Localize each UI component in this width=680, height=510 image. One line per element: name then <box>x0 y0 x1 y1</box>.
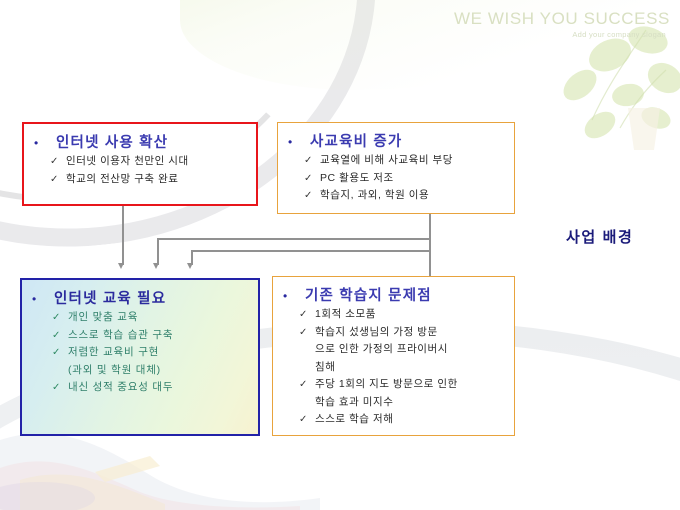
list-item-continuation: 침해 <box>315 360 508 376</box>
box2-title: 사교육비 증가 <box>310 130 402 151</box>
box1-bullet-icon: • <box>34 137 56 149</box>
list-item: ✓인터넷 이용자 천만인 시대 <box>66 154 250 170</box>
list-item-label: PC 활용도 저조 <box>320 172 394 184</box>
list-item-label: 침해 <box>315 361 335 373</box>
list-item: ✓교육열에 비해 사교육비 부당 <box>320 153 508 169</box>
box1-heading: • 인터넷 사용 확산 <box>34 131 256 152</box>
box4-title: 기존 학습지 문제점 <box>305 284 432 305</box>
box-existing-workbook-problems[interactable]: • 기존 학습지 문제점 ✓1회적 소모품 ✓학습지 섰생님의 가정 방문 으로… <box>272 276 515 436</box>
list-item-label: 학습 효과 미지수 <box>315 396 393 408</box>
list-item-label: 내신 성적 중요성 대두 <box>68 381 173 393</box>
list-item-label: 학습지 섰생님의 가정 방문 <box>315 326 438 338</box>
check-icon: ✓ <box>50 154 59 170</box>
box4-item-list: ✓1회적 소모품 ✓학습지 섰생님의 가정 방문 으로 인한 가정의 프라이버시… <box>273 307 514 428</box>
check-icon: ✓ <box>304 188 313 204</box>
box3-bullet-icon: • <box>32 293 54 305</box>
check-icon: ✓ <box>304 153 313 169</box>
list-item-label: 교육열에 비해 사교육비 부당 <box>320 154 453 166</box>
list-item: ✓스스로 학습 습관 구축 <box>68 328 252 344</box>
list-item-continuation: 학습 효과 미지수 <box>315 395 508 411</box>
box-internet-usage-spread[interactable]: • 인터넷 사용 확산 ✓인터넷 이용자 천만인 시대 ✓학교의 전산망 구축 … <box>22 122 258 206</box>
arrowhead-box2-elbow2 <box>187 263 193 269</box>
list-item-label: 학교의 전산망 구축 완료 <box>66 173 179 185</box>
list-item: ✓내신 성적 중요성 대두 <box>68 380 252 396</box>
list-item: ✓개인 맞춤 교육 <box>68 310 252 326</box>
slide-canvas: WE WISH YOU SUCCESS Add your company slo… <box>0 0 680 510</box>
box3-item-list: ✓개인 맞춤 교육 ✓스스로 학습 습관 구축 ✓저렴한 교육비 구현 (과외 … <box>22 310 258 396</box>
list-item: ✓저렴한 교육비 구현 <box>68 345 252 361</box>
box-private-education-cost-increase[interactable]: • 사교육비 증가 ✓교육열에 비해 사교육비 부당 ✓PC 활용도 저조 ✓학… <box>277 122 515 214</box>
box2-item-list: ✓교육열에 비해 사교육비 부당 ✓PC 활용도 저조 ✓학습지, 과외, 학원… <box>278 153 514 204</box>
list-item-continuation: (과외 및 학원 대체) <box>68 363 252 379</box>
box-internet-education-needed[interactable]: • 인터넷 교육 필요 ✓개인 맞춤 교육 ✓스스로 학습 습관 구축 ✓저렴한… <box>20 278 260 436</box>
arrowhead-box1-to-box3 <box>118 263 124 269</box>
list-item-label: 으로 인한 가정의 프라이버시 <box>315 343 448 355</box>
slide-header-title: WE WISH YOU SUCCESS <box>454 9 670 29</box>
section-label-business-background: 사업 배경 <box>566 226 633 247</box>
list-item: ✓PC 활용도 저조 <box>320 171 508 187</box>
list-item-continuation: 으로 인한 가정의 프라이버시 <box>315 342 508 358</box>
list-item-label: 스스로 학습 저해 <box>315 413 393 425</box>
connector-box1-to-box3 <box>122 205 124 265</box>
check-icon: ✓ <box>304 171 313 187</box>
box3-title: 인터넷 교육 필요 <box>54 287 166 308</box>
list-item: ✓학습지 섰생님의 가정 방문 <box>315 325 508 341</box>
connector-box2-to-box4 <box>429 214 431 276</box>
check-icon: ✓ <box>52 310 61 326</box>
list-item-label: 학습지, 과외, 학원 이용 <box>320 189 429 201</box>
box1-title: 인터넷 사용 확산 <box>56 131 168 152</box>
connector-box2-elbow2-across <box>191 250 430 252</box>
box2-heading: • 사교육비 증가 <box>288 130 514 151</box>
list-item: ✓학교의 전산망 구축 완료 <box>66 172 250 188</box>
connector-box2-elbow1-drop <box>157 238 159 265</box>
list-item: ✓1회적 소모품 <box>315 307 508 323</box>
list-item-label: 저렴한 교육비 구현 <box>68 346 159 358</box>
arrowhead-box2-elbow1 <box>153 263 159 269</box>
list-item: ✓주당 1회의 지도 방문으로 인한 <box>315 377 508 393</box>
box4-heading: • 기존 학습지 문제점 <box>283 284 514 305</box>
check-icon: ✓ <box>299 377 308 393</box>
box3-heading: • 인터넷 교육 필요 <box>32 287 258 308</box>
list-item: ✓학습지, 과외, 학원 이용 <box>320 188 508 204</box>
list-item-label: 주당 1회의 지도 방문으로 인한 <box>315 378 458 390</box>
slide-header-subtitle: Add your company slogan <box>572 30 666 39</box>
check-icon: ✓ <box>52 380 61 396</box>
check-icon: ✓ <box>299 307 308 323</box>
box4-bullet-icon: • <box>283 290 305 302</box>
check-icon: ✓ <box>299 412 308 428</box>
list-item-label: 스스로 학습 습관 구축 <box>68 329 173 341</box>
list-item-label: 인터넷 이용자 천만인 시대 <box>66 155 189 167</box>
check-icon: ✓ <box>299 325 308 341</box>
check-icon: ✓ <box>52 328 61 344</box>
check-icon: ✓ <box>52 345 61 361</box>
box2-bullet-icon: • <box>288 136 310 148</box>
list-item-label: 1회적 소모품 <box>315 308 376 320</box>
connector-box2-elbow1-across <box>157 238 430 240</box>
box1-item-list: ✓인터넷 이용자 천만인 시대 ✓학교의 전산망 구축 완료 <box>24 154 256 187</box>
list-item: ✓스스로 학습 저해 <box>315 412 508 428</box>
list-item-label: (과외 및 학원 대체) <box>68 364 161 376</box>
list-item-label: 개인 맞춤 교육 <box>68 311 138 323</box>
check-icon: ✓ <box>50 172 59 188</box>
